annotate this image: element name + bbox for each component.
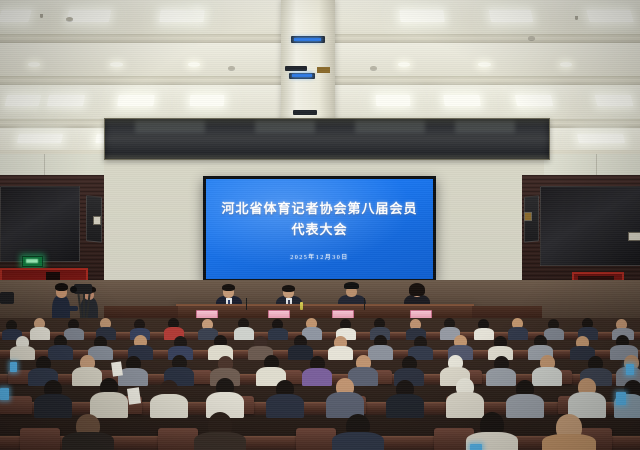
- ceiling-panel-light: [159, 10, 204, 22]
- ceiling-down-light: [478, 62, 491, 67]
- led-banner-glare: [255, 121, 315, 133]
- microphone-stand: [364, 298, 365, 310]
- phone-screen: [470, 444, 482, 450]
- smoke-detector-icon: [528, 36, 535, 40]
- led-banner-glare: [355, 121, 425, 133]
- led-banner-strip: [104, 118, 550, 160]
- ceiling-panel-light: [376, 95, 411, 106]
- microphone-stand: [246, 298, 247, 310]
- smoke-detector-icon: [370, 66, 377, 70]
- ceiling-panel-light: [586, 10, 633, 22]
- ceiling-down-light: [560, 62, 572, 67]
- screen-title-line1: 河北省体育记者协会第八届会员: [206, 198, 433, 217]
- person-hair: [222, 284, 235, 291]
- water-bottle: [300, 302, 303, 310]
- phone-screen: [616, 392, 626, 405]
- sprinkler-icon: [575, 16, 578, 20]
- ceiling-panel-light: [0, 10, 32, 22]
- av-indicator-led: [294, 38, 321, 41]
- ceiling-down-light: [110, 62, 123, 67]
- exit-sign-left: [22, 256, 43, 267]
- ceiling-panel-light: [577, 134, 625, 143]
- camera-lens-icon: [70, 286, 77, 293]
- ceiling-panel-light: [399, 10, 444, 22]
- screen-title-line2: 代表大会: [206, 219, 433, 238]
- phone-screen: [0, 388, 9, 400]
- audience-area: [0, 318, 640, 450]
- projection-screen: 河北省体育记者协会第八届会员 代表大会 2025年12月30日: [206, 179, 433, 279]
- av-indicator-led: [292, 74, 312, 77]
- wall-switch-right: [524, 212, 532, 221]
- seat-back: [20, 428, 60, 450]
- ceiling-down-light: [188, 62, 200, 67]
- ceiling-panel-light: [190, 95, 225, 106]
- wall-switch-right-2: [628, 232, 640, 241]
- person-hair: [55, 283, 68, 291]
- person-arm: [66, 306, 78, 311]
- ceiling-down-light: [398, 62, 410, 67]
- phone-screen: [10, 362, 17, 372]
- dark-glass-panel-right: [540, 186, 640, 266]
- paper-document: [127, 387, 141, 405]
- ceiling-panel-light: [17, 134, 63, 143]
- dark-glass-panel-left: [0, 186, 80, 262]
- led-banner-glare: [455, 121, 515, 133]
- av-equipment-amber: [317, 67, 330, 73]
- ceiling-panel-light: [47, 95, 85, 106]
- ceiling-panel-light: [443, 95, 480, 106]
- ceiling-panel-light: [489, 10, 533, 22]
- person-cap: [344, 282, 359, 289]
- ceiling-panel-light: [196, 10, 198, 11]
- conference-hall-photo: 河北省体育记者协会第八届会员 代表大会 2025年12月30日: [0, 0, 640, 450]
- seat-back: [296, 428, 336, 450]
- led-banner-glare: [135, 121, 205, 133]
- wall-switch-left: [93, 216, 101, 225]
- ceiling-panel-light: [515, 95, 553, 106]
- projector-unit: [293, 110, 317, 115]
- ceiling-panel-light: [5, 95, 42, 106]
- seat-back: [158, 428, 198, 450]
- ceiling-panel-light: [595, 95, 634, 106]
- smoke-detector-icon: [66, 17, 73, 21]
- sprinkler-icon: [40, 14, 43, 18]
- av-equipment: [285, 66, 307, 71]
- ceiling-panel-light: [117, 95, 154, 106]
- secondary-camera: [0, 292, 14, 304]
- person-hair: [282, 285, 295, 292]
- screen-date: 2025年12月30日: [206, 252, 433, 261]
- phone-screen: [626, 364, 634, 375]
- smoke-detector-icon: [228, 66, 235, 70]
- person-hair: [409, 283, 425, 296]
- paper-document: [111, 361, 123, 376]
- ceiling-panel-light: [67, 10, 111, 22]
- exit-glyph: [26, 259, 38, 263]
- ceiling-down-light: [28, 62, 40, 67]
